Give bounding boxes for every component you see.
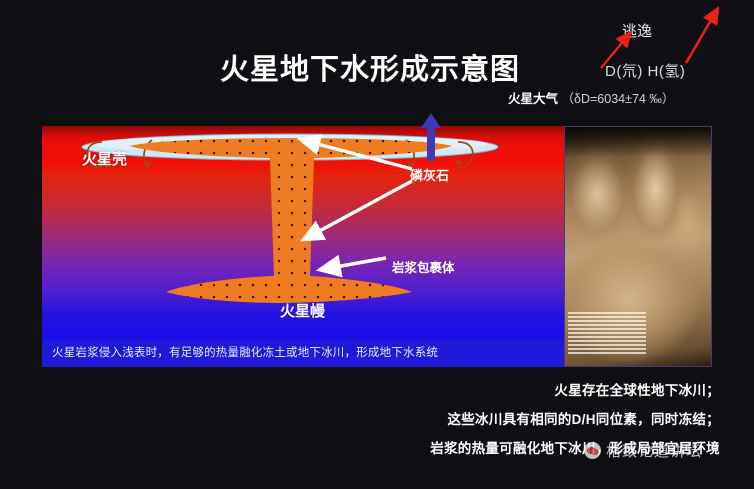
magma-inclusion-label: 岩浆包裹体 xyxy=(392,257,455,276)
mars-atmosphere-value: （δD=6034±74 ‰） xyxy=(562,92,675,106)
page-title: 火星地下水形成示意图 xyxy=(180,46,560,88)
conclusion-line-1: 火星存在全球性地下冰川； xyxy=(554,379,720,399)
wechat-badge-icon xyxy=(584,442,601,459)
conclusion-line-2: 这些冰川具有相同的D/H同位素，同时冻结； xyxy=(447,408,720,428)
slide-canvas: 火星地下水形成示意图 逃逸 D(氘) H(氢) 火星大气 （δD=6034±74… xyxy=(0,0,754,489)
upward-vapor-arrow-icon xyxy=(420,113,442,161)
escape-arrow-left-icon xyxy=(596,30,640,72)
mars-surface-photo xyxy=(564,126,712,367)
mantle-label: 火星幔 xyxy=(280,300,325,321)
photo-top-shadow xyxy=(565,127,712,157)
magma-inclusion-arrow-icon xyxy=(320,252,390,276)
crust-label: 火星壳 xyxy=(82,148,127,169)
photo-caption-microtext xyxy=(568,312,646,356)
apatite-arrow-top-icon xyxy=(300,136,418,174)
mars-atmosphere-label: 火星大气 （δD=6034±74 ‰） xyxy=(508,88,674,107)
mars-atmosphere-title: 火星大气 xyxy=(508,92,558,106)
watermark-text: 格致论道讲坛 xyxy=(606,440,702,461)
apatite-label: 磷灰石 xyxy=(410,165,449,184)
watermark: 格致论道讲坛 xyxy=(584,440,702,461)
apatite-arrow-bottom-icon xyxy=(300,175,418,243)
escape-arrow-right-icon xyxy=(680,6,728,68)
diagram-caption: 火星岩浆侵入浅表时，有足够的热量融化冻土或地下冰川，形成地下水系统 xyxy=(52,344,564,360)
